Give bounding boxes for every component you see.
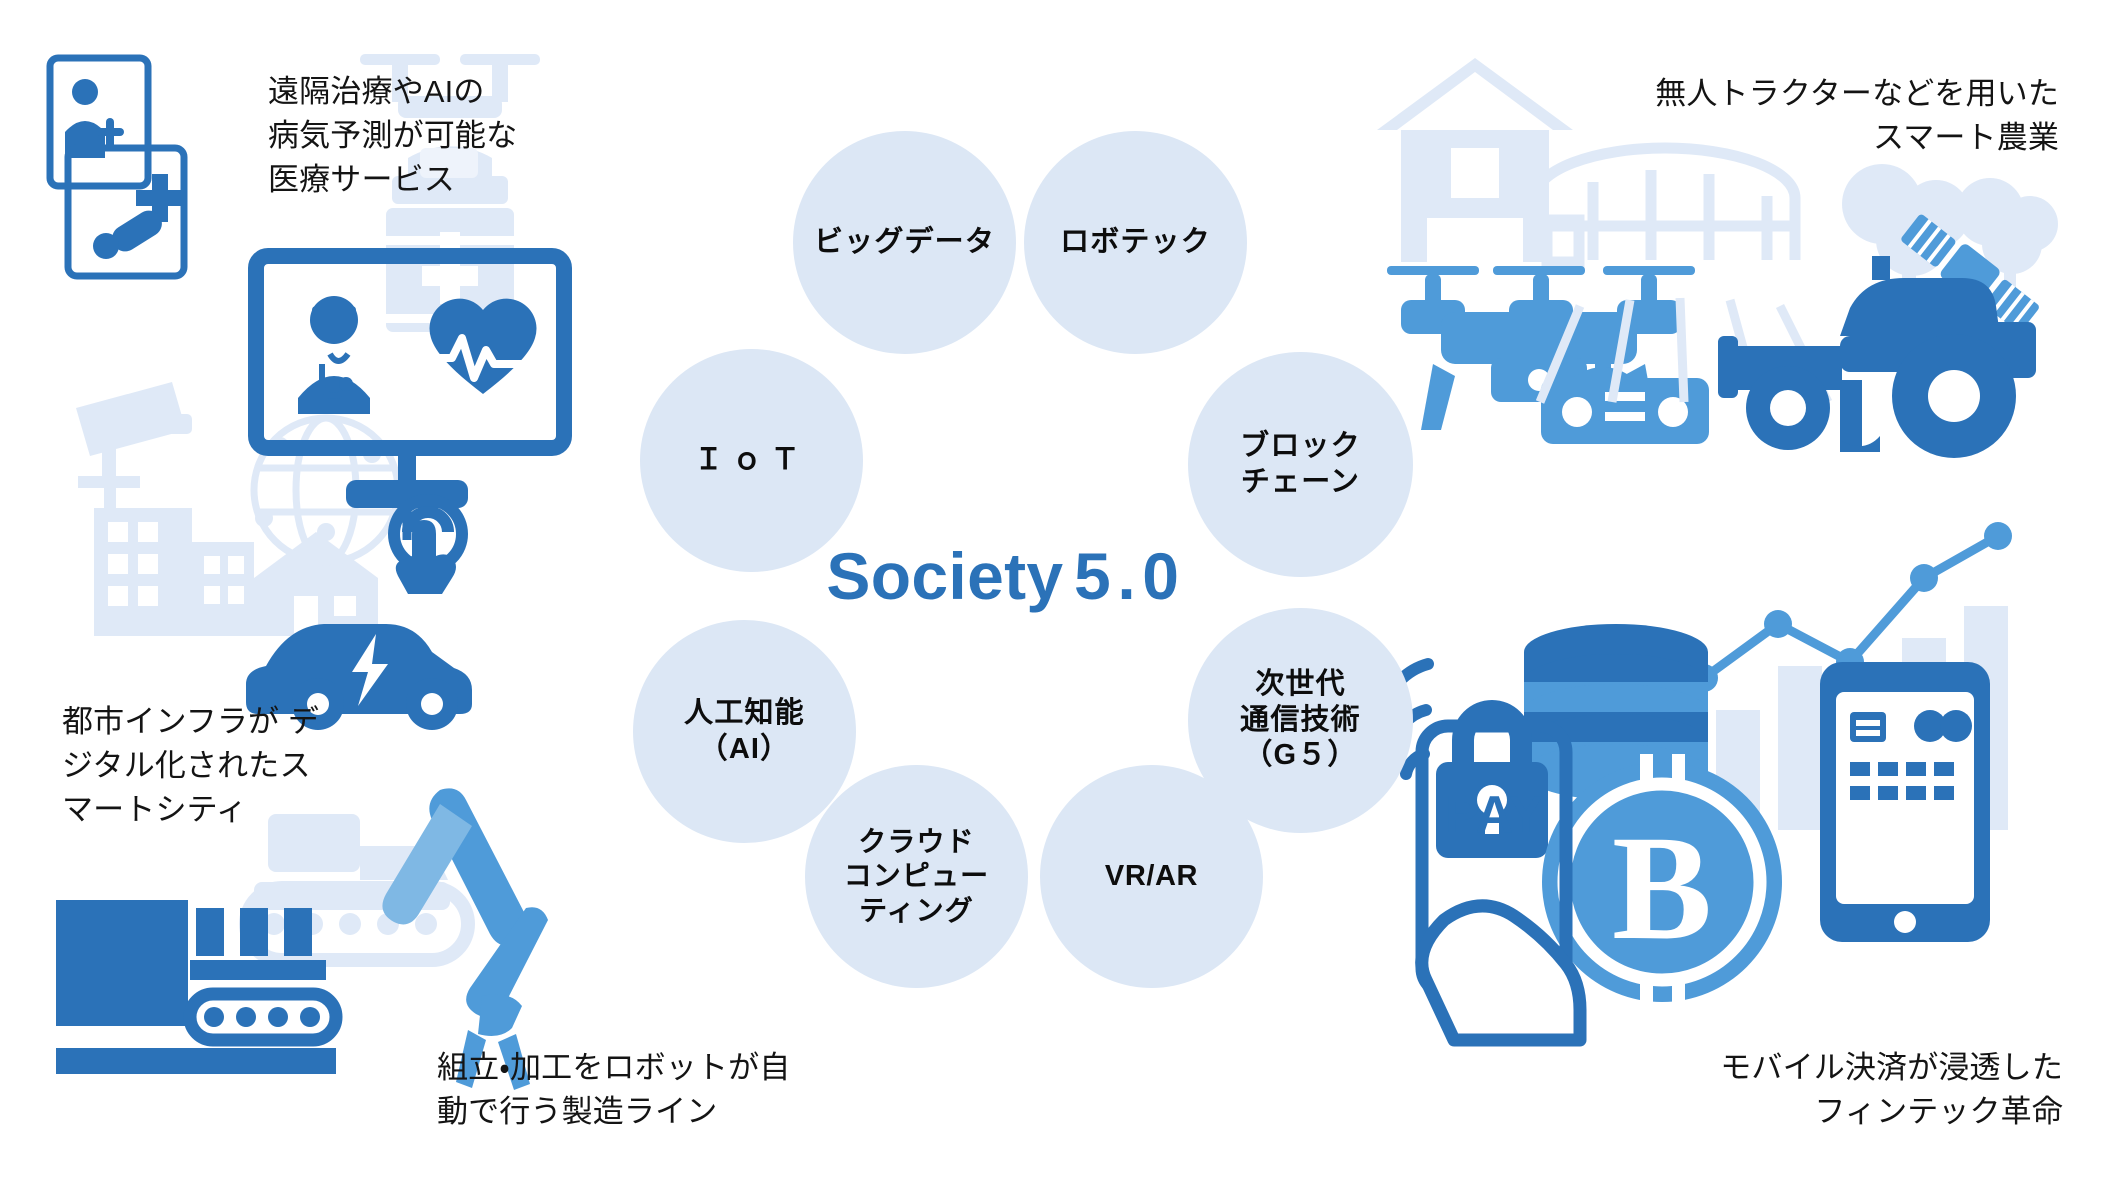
bubble-blockchain-label: ブロック チェーン: [1240, 429, 1361, 500]
bubble-vrar-label: VR/AR: [1105, 859, 1198, 894]
bubble-g5-label: 次世代 通信技術 （G５）: [1240, 667, 1361, 773]
bubble-robotec[interactable]: ロボテック: [1024, 131, 1247, 354]
infographic-canvas: B PAY: [0, 0, 2111, 1187]
bubble-ai-label: 人工知能 （AI）: [684, 696, 805, 767]
doctor-avatar-icon: [298, 296, 370, 414]
center-title: Society5.0: [766, 538, 1246, 614]
caption-medical: 遠隔治療やAIの 病気予測が可能な 医療サービス: [268, 70, 517, 202]
caption-factory: 組立・加工をロボットが自 動で行う製造ライン: [437, 1046, 790, 1134]
bubble-bigdata-label: ビッグデータ: [814, 225, 995, 260]
security-camera-icon: [76, 382, 192, 516]
caption-fintech: モバイル決済が浸透した フィンテック革命: [1720, 1046, 2063, 1134]
bubble-ai[interactable]: 人工知能 （AI）: [633, 620, 856, 843]
bubble-robotec-label: ロボテック: [1060, 225, 1211, 260]
bubble-bigdata[interactable]: ビッグデータ: [793, 131, 1016, 354]
artwork-right-tractor: [1690, 140, 2110, 560]
bubble-vrar[interactable]: VR/AR: [1040, 765, 1263, 988]
pay-label: PAY: [1445, 786, 1543, 844]
pill-icon: [93, 206, 167, 259]
doctor-tablet-icon: [50, 58, 184, 276]
center-title-version: 5.0: [1074, 539, 1186, 613]
caption-agriculture: 無人トラクターなどを用いた スマート農業: [1655, 72, 2059, 160]
bubble-iot-label: ＩｏＴ: [694, 443, 809, 478]
bubble-cloud[interactable]: クラウド コンピュー ティング: [805, 765, 1028, 988]
bubble-cloud-label: クラウド コンピュー ティング: [844, 825, 990, 927]
caption-smartcity: 都市インフラが デ ジタル化されたス マートシティ: [62, 700, 319, 832]
telemedicine-monitor-icon: [248, 248, 588, 578]
bitcoin-symbol: B: [1612, 805, 1712, 971]
center-title-main: Society: [826, 539, 1063, 613]
credit-card-phone-icon: [1820, 662, 1990, 942]
city-buildings-icon: [94, 508, 254, 636]
heartbeat-icon: [430, 299, 537, 394]
conveyor-factory-icon: [56, 889, 336, 1074]
